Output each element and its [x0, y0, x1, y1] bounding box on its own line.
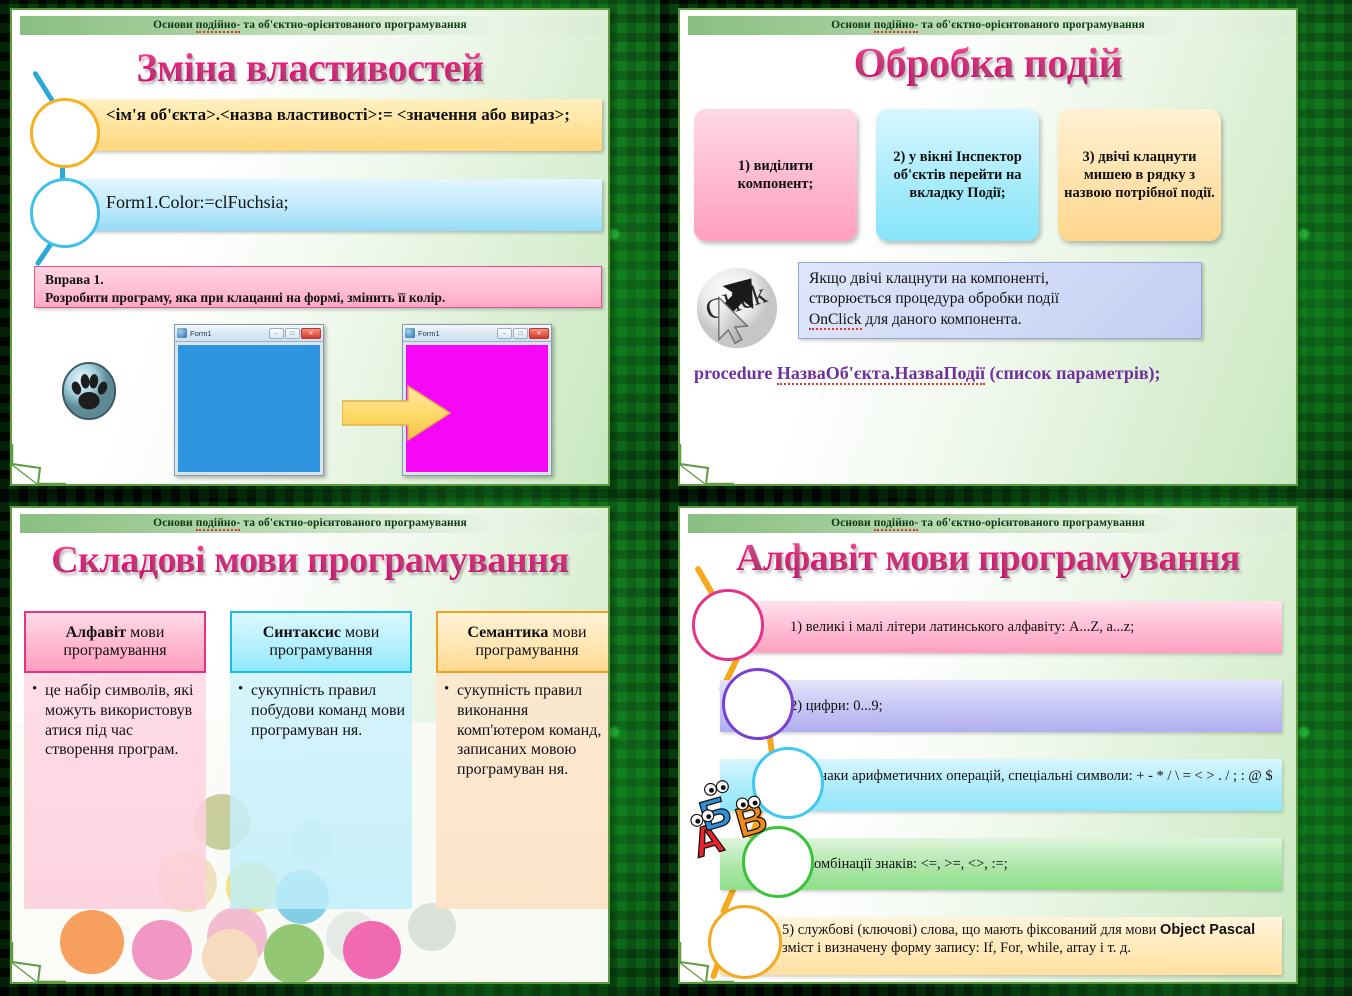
form-window-before: Form1 – □ ✕: [174, 324, 324, 476]
slide-4-title: Алфавіт мови програмування: [680, 536, 1296, 580]
bullet-circle-1: [692, 589, 764, 661]
minimize-button-after[interactable]: –: [497, 328, 512, 339]
slide-3-wrapper: Основи подійно- та об'єктно-орієнтованог…: [0, 498, 660, 996]
column-alphabet-term: Алфавіт: [66, 624, 127, 641]
close-button[interactable]: ✕: [301, 328, 321, 339]
app-icon-after: [405, 328, 415, 338]
cartoon-letters-abv-icon: А Б В: [686, 776, 786, 861]
slides-grid: Основи подійно- та об'єктно-орієнтованог…: [0, 0, 1352, 996]
form-canvas-before: [178, 345, 320, 472]
mouse-click-icon: Click: [694, 265, 780, 351]
procedure-name: НазваОб'єкта.НазваПодії: [777, 363, 985, 385]
note-line-3: OnClick для даного компонента.: [809, 310, 1191, 330]
column-alphabet: Алфавіт мови програмування це набір симв…: [24, 611, 206, 909]
row5-object-pascal: Object Pascal: [1160, 922, 1255, 938]
task-line-2: Розробити програму, яка при клацанні на …: [45, 289, 593, 307]
bullet-circle-2: [722, 668, 794, 740]
column-alphabet-header: Алфавіт мови програмування: [24, 611, 206, 673]
alphabet-row-5-text: 5) службові (ключові) слова, що мають фі…: [782, 921, 1274, 957]
column-semantics-header: Семантика мови програмування: [436, 611, 610, 673]
alphabet-row-3-text: 3) знаки арифметичних операцій, спеціаль…: [798, 767, 1274, 803]
slide-3-header-band: Основи подійно- та об'єктно-орієнтованог…: [20, 514, 600, 533]
alphabet-row-5: 5) службові (ключові) слова, що мають фі…: [720, 917, 1282, 975]
slide-2-corner-fold: [678, 442, 734, 486]
list-item: це набір символів, які можуть використов…: [32, 681, 200, 760]
maximize-button-after[interactable]: □: [513, 328, 528, 339]
procedure-signature: procedure НазваОб'єкта.НазваПодії (списо…: [694, 362, 1254, 385]
alphabet-row-2: 2) цифри: 0...9;: [720, 680, 1282, 732]
slide-2-title: Обробка подій: [680, 40, 1296, 88]
slide-1-title: Зміна властивостей: [12, 44, 608, 91]
window-title-after: Form1: [418, 329, 440, 338]
slide-4: Основи подійно- та об'єктно-орієнтованог…: [678, 506, 1298, 984]
column-semantics-body: сукупність правил виконання комп'ютером …: [436, 673, 610, 909]
slide-2-header-band: Основи подійно- та об'єктно-орієнтованог…: [688, 16, 1288, 35]
slide-4-wrapper: Основи подійно- та об'єктно-орієнтованог…: [660, 498, 1352, 996]
step-box-3: 3) двічі клацнути мишею в рядку з назвою…: [1058, 109, 1221, 241]
column-semantics-term: Семантика: [467, 624, 548, 641]
onclick-keyword: OnClick: [809, 311, 862, 330]
column-syntax-body: сукупність правил побудови команд мови п…: [230, 673, 412, 909]
list-item: сукупність правил виконання комп'ютером …: [444, 681, 610, 780]
slide-4-header-text: Основи подійно- та об'єктно-орієнтованог…: [688, 514, 1288, 533]
bullet-circle-5: [708, 905, 782, 979]
column-syntax-term: Синтаксис: [263, 624, 341, 641]
slide-4-header-band: Основи подійно- та об'єктно-орієнтованог…: [688, 514, 1288, 533]
step-box-2: 2) у вікні Інспектор об'єктів перейти на…: [876, 109, 1039, 241]
slide-3: Основи подійно- та об'єктно-орієнтованог…: [10, 506, 610, 984]
circle-example: [30, 178, 100, 248]
window-buttons-after: – □ ✕: [497, 328, 549, 339]
row5-part-b: зміст і визначену форму запису: If, For,…: [782, 940, 1131, 956]
slide-1-header-band: Основи подійно- та об'єктно-орієнтованог…: [20, 16, 600, 35]
task-box: Вправа 1. Розробити програму, яка при кл…: [34, 266, 602, 308]
column-syntax-header: Синтаксис мови програмування: [230, 611, 412, 673]
slide-1: Основи подійно- та об'єктно-орієнтованог…: [10, 8, 610, 486]
transition-arrow-icon: [342, 385, 452, 446]
note-line-1: Якщо двічі клацнути на компоненті,: [809, 269, 1191, 289]
syntax-box: <ім'я об'єкта>.<назва властивості>:= <зн…: [80, 99, 602, 151]
task-line-1: Вправа 1.: [45, 271, 593, 289]
procedure-params: (список параметрів);: [985, 363, 1161, 383]
example-box: Form1.Color:=clFuchsia;: [80, 179, 602, 231]
slide-1-header-text: Основи подійно- та об'єктно-орієнтованог…: [20, 16, 600, 35]
circle-syntax: [30, 98, 100, 168]
maximize-button[interactable]: □: [285, 328, 300, 339]
slide-1-wrapper: Основи подійно- та об'єктно-орієнтованог…: [0, 0, 660, 498]
slide-3-title: Складові мови програмування: [12, 538, 608, 582]
procedure-keyword: procedure: [694, 363, 777, 383]
alphabet-row-1: 1) великі і малі літери латинського алфа…: [720, 601, 1282, 653]
window-buttons-before: – □ ✕: [269, 328, 321, 339]
onclick-note-box: Якщо двічі клацнути на компоненті, створ…: [798, 262, 1202, 339]
slide-1-corner-fold: [10, 442, 66, 486]
paw-print-icon: [60, 362, 118, 420]
column-syntax: Синтаксис мови програмування сукупність …: [230, 611, 412, 909]
column-semantics: Семантика мови програмування сукупність …: [436, 611, 610, 909]
column-alphabet-body: це набір символів, які можуть використов…: [24, 673, 206, 909]
close-button-after[interactable]: ✕: [529, 328, 549, 339]
list-item: сукупність правил побудови команд мови п…: [238, 681, 406, 740]
slide-2-header-text: Основи подійно- та об'єктно-орієнтованог…: [688, 16, 1288, 35]
slide-2: Основи подійно- та об'єктно-орієнтованог…: [678, 8, 1298, 486]
window-titlebar-before: Form1 – □ ✕: [175, 325, 323, 342]
app-icon: [177, 328, 187, 338]
window-titlebar-after: Form1 – □ ✕: [403, 325, 551, 342]
note-line-2: створюється процедура обробки події: [809, 289, 1191, 309]
step-box-1: 1) виділити компонент;: [694, 109, 857, 241]
slide-3-header-text: Основи подійно- та об'єктно-орієнтованог…: [20, 514, 600, 533]
slide-2-wrapper: Основи подійно- та об'єктно-орієнтованог…: [660, 0, 1352, 498]
note-line-3-rest: для даного компонента.: [862, 311, 1022, 328]
window-title-before: Form1: [190, 329, 212, 338]
minimize-button[interactable]: –: [269, 328, 284, 339]
row5-part-a: 5) службові (ключові) слова, що мають фі…: [782, 922, 1160, 938]
